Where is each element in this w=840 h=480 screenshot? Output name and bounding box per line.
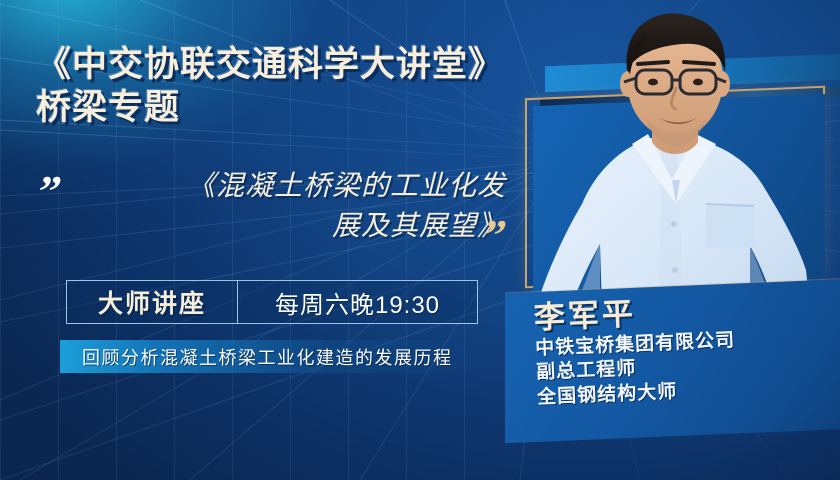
speaker-info-text: 李军平 中铁宝桥集团有限公司 副总工程师 全国钢结构大师 bbox=[525, 281, 840, 444]
subtitle-line-0: 《混凝土桥梁的工业化发 bbox=[86, 166, 506, 206]
description-band: 回顾分析混凝土桥梁工业化建造的发展历程 bbox=[60, 340, 490, 373]
title-line-1: 桥梁专题 bbox=[36, 87, 536, 130]
quote-mark-icon-open: ” bbox=[33, 170, 62, 214]
poster-subtitle: ” 《混凝土桥梁的工业化发 展及其展望》 ” bbox=[36, 166, 521, 262]
subtitle-line-1: 展及其展望》 bbox=[86, 206, 506, 246]
lecture-time: 每周六晚19:30 bbox=[238, 285, 477, 320]
description-text: 回顾分析混凝土桥梁工业化建造的发展历程 bbox=[82, 344, 453, 370]
poster-title: 《中交协联交通科学大讲堂》 桥梁专题 bbox=[36, 44, 536, 129]
lecture-poster: 李军平 中铁宝桥集团有限公司 副总工程师 全国钢结构大师 《中交协联交通科学大讲… bbox=[0, 0, 840, 480]
subtitle-text: 《混凝土桥梁的工业化发 展及其展望》 bbox=[86, 166, 506, 246]
title-line-0: 《中交协联交通科学大讲堂》 bbox=[36, 44, 536, 87]
lecture-info-box: 大师讲座 每周六晚19:30 bbox=[66, 280, 478, 324]
lecture-label: 大师讲座 bbox=[67, 284, 237, 320]
